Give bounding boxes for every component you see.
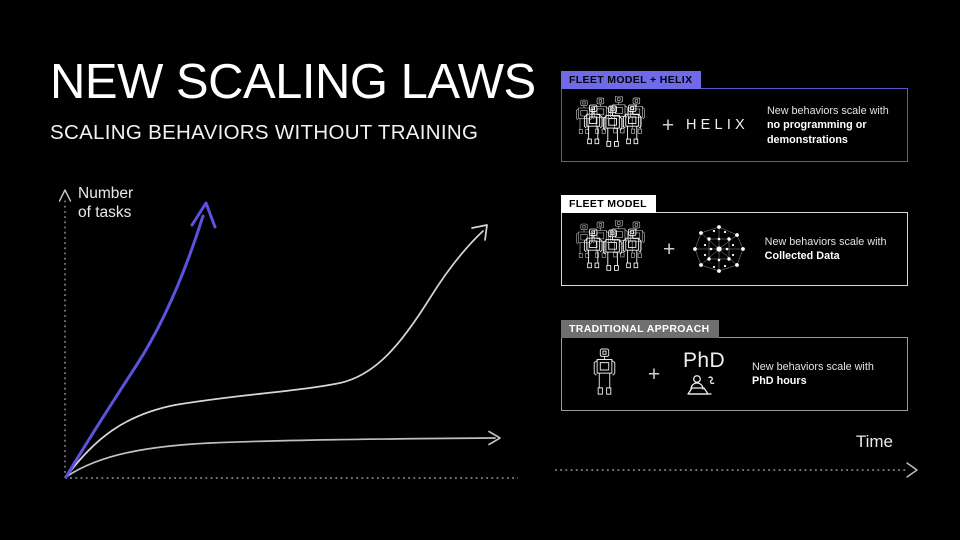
card-copy-fleet-model: New behaviors scale with Collected Data xyxy=(765,235,907,264)
card-copy-fleet-model-helix: New behaviors scale with no programming … xyxy=(767,104,907,147)
y-axis-label: Number of tasks xyxy=(78,185,133,223)
card-copy-bold: Collected Data xyxy=(765,250,840,262)
scaling-chart: Number of tasks xyxy=(40,178,520,488)
card-body-fleet-model: + xyxy=(561,212,908,286)
robot-fleet-icon-svg xyxy=(572,96,654,154)
title-block: NEW SCALING LAWS SCALING BEHAVIORS WITHO… xyxy=(50,58,536,145)
plus-glyph: + xyxy=(648,364,660,385)
chart-svg xyxy=(40,178,520,488)
card-copy-light: New behaviors scale with xyxy=(767,105,889,117)
plus-icon: + xyxy=(654,239,684,260)
card-copy-light: New behaviors scale with xyxy=(752,361,874,373)
data-network-icon-svg xyxy=(685,219,753,279)
card-traditional-approach[interactable]: TRADITIONAL APPROACH + PhD xyxy=(561,319,908,411)
robot-single-icon xyxy=(574,345,634,403)
time-axis-arrowhead xyxy=(907,463,917,477)
curve-fleet-model xyxy=(66,231,483,477)
card-body-traditional-approach: + PhD New behaviors scale with PhD hours xyxy=(561,337,908,411)
robot-single-icon-svg xyxy=(587,345,621,403)
card-copy-traditional-approach: New behaviors scale with PhD hours xyxy=(752,360,902,389)
card-fleet-model[interactable]: FLEET MODEL xyxy=(561,194,908,286)
card-copy-bold: PhD hours xyxy=(752,375,807,387)
phd-label: PhD xyxy=(683,350,725,371)
slide-canvas: NEW SCALING LAWS SCALING BEHAVIORS WITHO… xyxy=(0,0,960,540)
card-copy-bold: no programming or demonstrations xyxy=(767,119,867,145)
card-body-fleet-model-helix: + HELIX New behaviors scale with no prog… xyxy=(561,88,908,162)
card-tag-fleet-model-helix: FLEET MODEL + HELIX xyxy=(561,71,701,89)
time-axis-arrow xyxy=(555,460,925,480)
card-tag-fleet-model: FLEET MODEL xyxy=(561,195,656,213)
plus-icon: + xyxy=(654,115,682,136)
page-subtitle: SCALING BEHAVIORS WITHOUT TRAINING xyxy=(50,121,536,145)
page-title: NEW SCALING LAWS xyxy=(50,58,536,107)
data-network-icon xyxy=(684,219,752,279)
curve-fleet-model-helix xyxy=(66,216,203,477)
person-at-laptop-icon xyxy=(686,373,722,399)
plus-glyph: + xyxy=(662,115,674,136)
card-tag-traditional-approach: TRADITIONAL APPROACH xyxy=(561,320,719,338)
x-axis-group: Time xyxy=(555,432,925,482)
card-fleet-model-helix[interactable]: FLEET MODEL + HELIX xyxy=(561,70,908,162)
helix-wordmark-label: HELIX xyxy=(686,117,749,133)
robot-fleet-icon xyxy=(572,220,654,278)
y-axis-arrowhead xyxy=(60,190,71,201)
plus-glyph: + xyxy=(663,239,675,260)
card-copy-light: New behaviors scale with xyxy=(765,236,887,248)
robot-fleet-icon-svg xyxy=(572,220,654,278)
curve-traditional-approach xyxy=(66,438,495,477)
plus-icon: + xyxy=(634,364,674,385)
x-axis-label: Time xyxy=(856,432,893,452)
phd-group: PhD xyxy=(674,350,734,399)
helix-wordmark: HELIX xyxy=(682,117,753,133)
curve-fleet-model-arrowhead xyxy=(472,225,487,240)
robot-fleet-icon xyxy=(572,96,654,154)
